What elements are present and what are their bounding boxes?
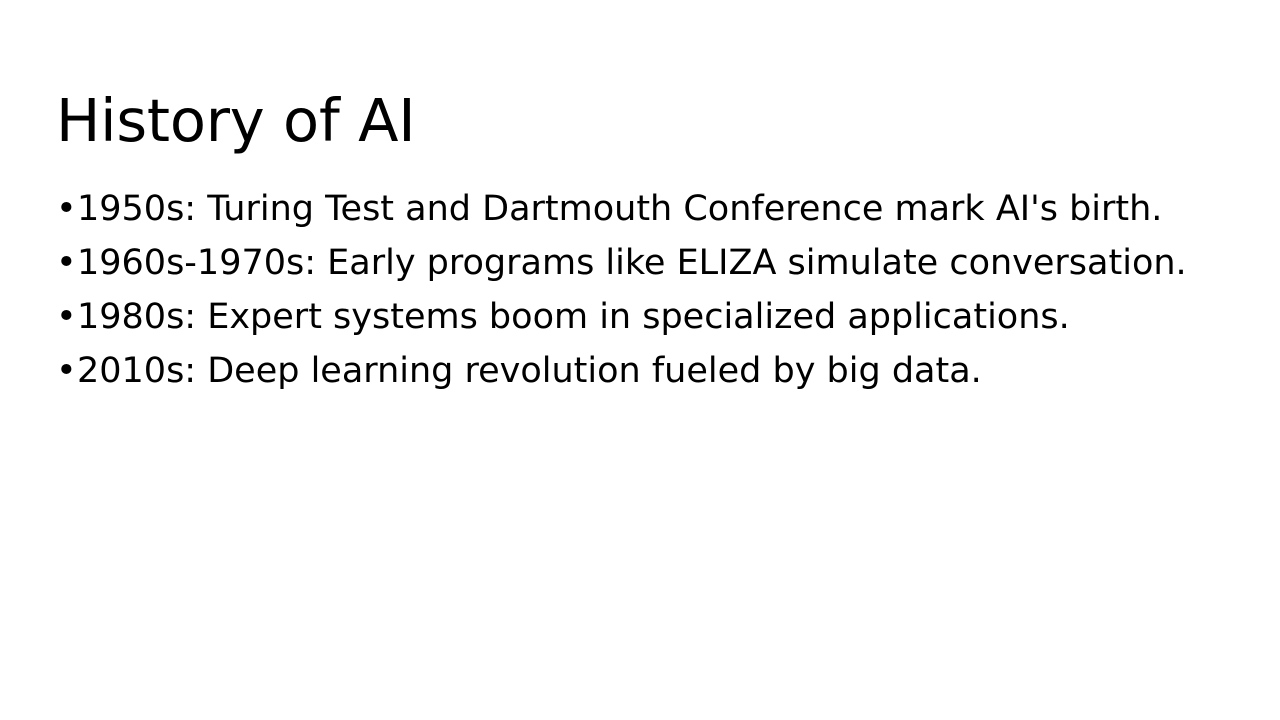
- slide-bullet-list: • 1950s: Turing Test and Dartmouth Confe…: [56, 182, 1236, 398]
- list-item-text: 1980s: Expert systems boom in specialize…: [77, 290, 1236, 344]
- list-item-text: 1950s: Turing Test and Dartmouth Confere…: [77, 182, 1236, 236]
- bullet-point-icon: •: [56, 290, 77, 344]
- list-item-text: 2010s: Deep learning revolution fueled b…: [77, 344, 1236, 398]
- list-item: • 1980s: Expert systems boom in speciali…: [56, 290, 1236, 344]
- list-item: • 2010s: Deep learning revolution fueled…: [56, 344, 1236, 398]
- bullet-point-icon: •: [56, 344, 77, 398]
- slide-title: History of AI: [56, 88, 1226, 154]
- bullet-point-icon: •: [56, 236, 77, 290]
- bullet-point-icon: •: [56, 182, 77, 236]
- list-item: • 1950s: Turing Test and Dartmouth Confe…: [56, 182, 1236, 236]
- presentation-slide: History of AI • 1950s: Turing Test and D…: [0, 0, 1280, 720]
- list-item: • 1960s-1970s: Early programs like ELIZA…: [56, 236, 1236, 290]
- list-item-text: 1960s-1970s: Early programs like ELIZA s…: [77, 236, 1236, 290]
